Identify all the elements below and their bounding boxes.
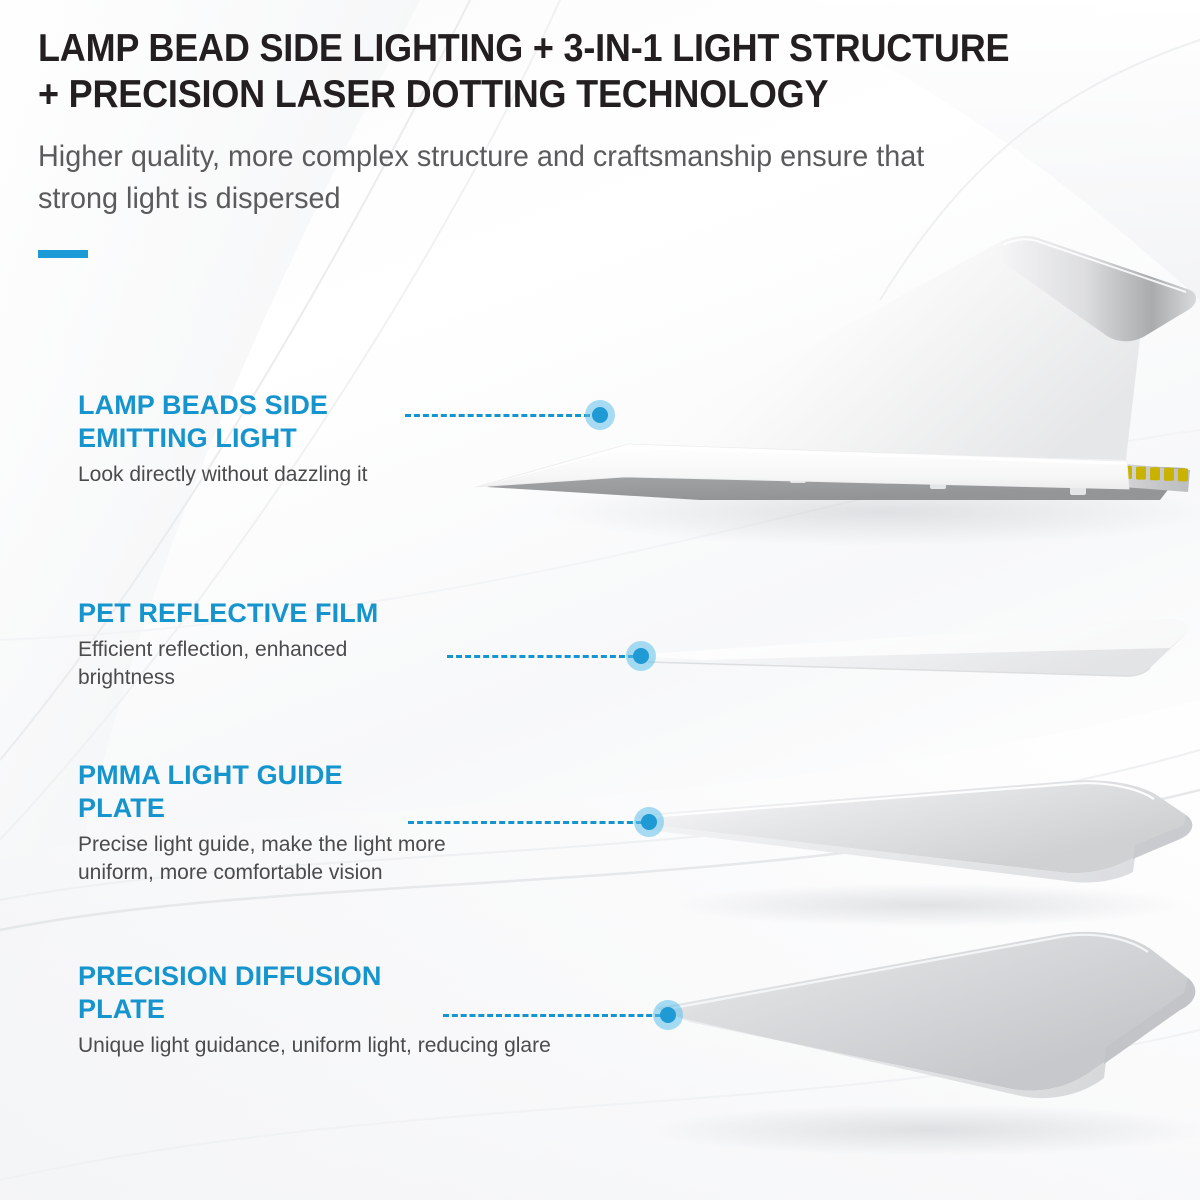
connector-line-pet-film <box>447 655 634 658</box>
blue-accent-bar <box>38 250 88 258</box>
callout-heading: LAMP BEADS SIDE EMITTING LIGHT <box>78 389 367 455</box>
page-title: LAMP BEAD SIDE LIGHTING + 3-IN-1 LIGHT S… <box>38 26 1168 118</box>
callout-heading: PET REFLECTIVE FILM <box>78 597 378 630</box>
pmma-light-guide-plate-layer <box>636 780 1192 927</box>
callout-description: Precise light guide, make the light more… <box>78 831 446 887</box>
header-block: LAMP BEAD SIDE LIGHTING + 3-IN-1 LIGHT S… <box>38 26 1168 220</box>
callout-description: Efficient reflection, enhanced brightnes… <box>78 636 378 692</box>
connector-line-lamp-beads <box>405 414 590 417</box>
connector-line-diffusion-plate <box>443 1014 661 1017</box>
lamp-bead-row-right <box>1122 466 1188 481</box>
callout-heading: PMMA LIGHT GUIDE PLATE <box>78 759 446 825</box>
page-subtitle-line-1: Higher quality, more complex structure a… <box>38 136 1123 178</box>
connector-dot-diffusion-plate <box>653 1000 683 1030</box>
callout-description: Look directly without dazzling it <box>78 461 367 489</box>
callout-precision-diffusion-plate: PRECISION DIFFUSION PLATE Unique light g… <box>78 960 551 1060</box>
infographic-page: LAMP BEAD SIDE LIGHTING + 3-IN-1 LIGHT S… <box>0 0 1200 1200</box>
connector-dot-lamp-beads <box>585 400 615 430</box>
callout-description: Unique light guidance, uniform light, re… <box>78 1032 551 1060</box>
page-subtitle-line-2: strong light is dispersed <box>38 178 1123 220</box>
callout-lamp-beads-side-emitting-light: LAMP BEADS SIDE EMITTING LIGHT Look dire… <box>78 389 367 489</box>
lamp-bead-row-front <box>622 450 1113 481</box>
callout-pmma-light-guide-plate: PMMA LIGHT GUIDE PLATE Precise light gui… <box>78 759 446 887</box>
callout-pet-reflective-film: PET REFLECTIVE FILM Efficient reflection… <box>78 597 378 692</box>
frame-mounting-clips <box>648 468 1086 495</box>
precision-diffusion-plate-layer <box>650 932 1200 1156</box>
page-title-line-1: LAMP BEAD SIDE LIGHTING + 3-IN-1 LIGHT S… <box>38 26 1095 72</box>
connector-line-pmma-plate <box>408 821 642 824</box>
page-title-line-2: + PRECISION LASER DOTTING TECHNOLOGY <box>38 72 1095 118</box>
page-subtitle: Higher quality, more complex structure a… <box>38 136 1168 220</box>
connector-dot-pmma-plate <box>634 807 664 837</box>
connector-dot-pet-film <box>626 641 656 671</box>
pet-reflective-film-layer <box>630 620 1189 677</box>
led-housing-frame-layer <box>476 236 1200 546</box>
